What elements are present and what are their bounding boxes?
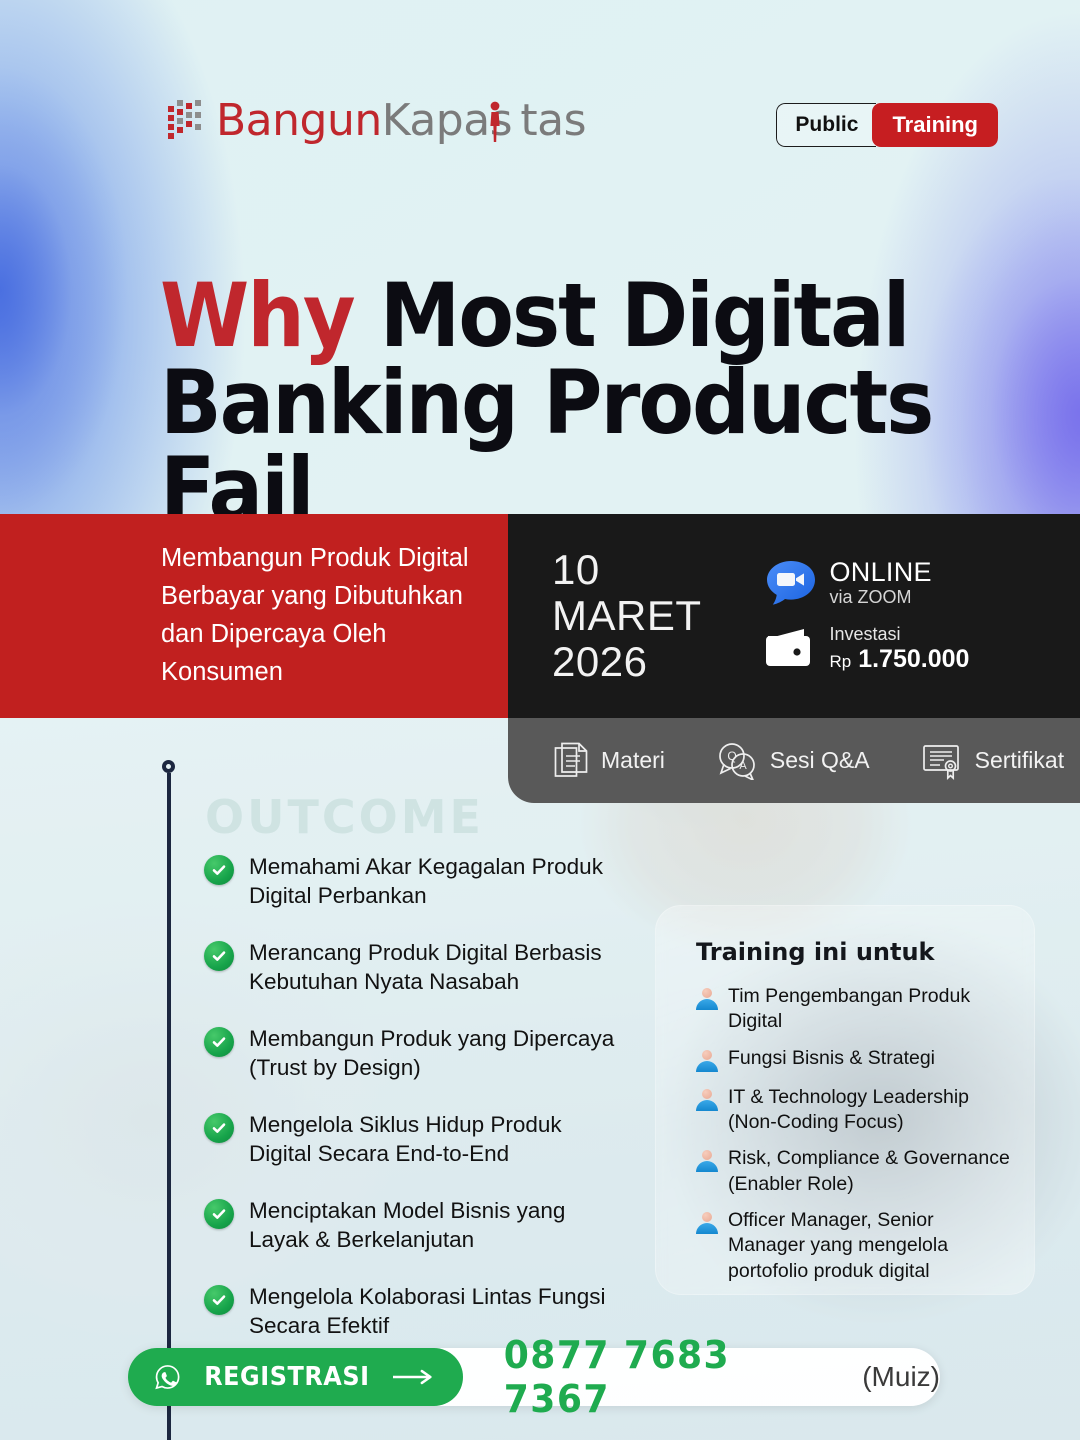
outcome-item: Membangun Produk yang Dipercaya (Trust b…	[204, 1024, 624, 1082]
price-text: Investasi Rp 1.750.000	[830, 624, 970, 674]
delivery-mode: ONLINE	[830, 558, 932, 587]
timeline-start-dot	[162, 760, 175, 773]
outcome-text: Membangun Produk yang Dipercaya (Trust b…	[249, 1024, 624, 1082]
brand-name-first: Bangun	[216, 95, 382, 146]
page-title: Why Most Digital Banking Products Fail	[160, 272, 960, 533]
check-circle-icon	[204, 1113, 234, 1143]
outcome-item: Mengelola Kolaborasi Lintas Fungsi Secar…	[204, 1282, 624, 1340]
outcome-text: Merancang Produk Digital Berbasis Kebutu…	[249, 938, 624, 996]
check-circle-icon	[204, 855, 234, 885]
svg-text:A: A	[739, 760, 747, 772]
audience-text: Risk, Compliance & Governance (Enabler R…	[728, 1146, 1010, 1197]
outcome-item: Mengelola Siklus Hidup Produk Digital Se…	[204, 1110, 624, 1168]
audience-item: Risk, Compliance & Governance (Enabler R…	[696, 1146, 1010, 1197]
brand-wordmark: BangunKapas tas	[216, 95, 586, 146]
brand-header: BangunKapas tas	[168, 95, 586, 146]
outcome-item: Merancang Produk Digital Berbasis Kebutu…	[204, 938, 624, 996]
price-currency: Rp	[830, 652, 852, 671]
audience-title: Training ini untuk	[696, 938, 1010, 966]
feature-materi: Materi	[554, 742, 665, 780]
feature-label: Sertifikat	[975, 747, 1064, 774]
contact-name: (Muiz)	[862, 1361, 940, 1393]
video-chat-bubble-icon	[764, 559, 818, 607]
timeline-line	[167, 773, 171, 1440]
audience-item: Officer Manager, Senior Manager yang men…	[696, 1208, 1010, 1284]
registrasi-label: REGISTRASI	[204, 1362, 369, 1392]
check-circle-icon	[204, 1027, 234, 1057]
check-circle-icon	[204, 1285, 234, 1315]
outcome-text: Mengelola Siklus Hidup Produk Digital Se…	[249, 1110, 624, 1168]
certificate-icon	[922, 742, 962, 780]
audience-text: Officer Manager, Senior Manager yang men…	[728, 1208, 1010, 1284]
feature-qa: Q A Sesi Q&A	[717, 742, 870, 780]
outcome-text: Menciptakan Model Bisnis yang Layak & Be…	[249, 1196, 624, 1254]
event-month: MARET	[552, 593, 702, 639]
audience-text: Fungsi Bisnis & Strategi	[728, 1046, 935, 1071]
contact-phone[interactable]: 0877 7683 7367	[504, 1333, 836, 1421]
audience-text: IT & Technology Leadership (Non-Coding F…	[728, 1085, 1010, 1136]
price-label: Investasi	[830, 624, 970, 646]
qa-speech-bubbles-icon: Q A	[717, 742, 757, 780]
event-date: 10 MARET 2026	[508, 547, 702, 686]
feature-label: Sesi Q&A	[770, 747, 870, 774]
feature-label: Materi	[601, 747, 665, 774]
brand-figure-icon	[512, 95, 520, 146]
delivery-mode-row: ONLINE via ZOOM	[764, 558, 970, 608]
audience-text: Tim Pengembangan Produk Digital	[728, 984, 1010, 1035]
person-icon	[696, 988, 718, 1012]
event-year: 2026	[552, 639, 702, 685]
arrow-right-icon	[393, 1368, 437, 1386]
brand-name-third: tas	[520, 95, 586, 146]
feature-bar: Materi Q A Sesi Q&A Sertifikat	[508, 718, 1080, 803]
price-value: 1.750.000	[858, 645, 969, 673]
audience-card: Training ini untuk Tim Pengembangan Prod…	[655, 905, 1035, 1295]
person-icon	[696, 1212, 718, 1236]
registration-bar: REGISTRASI 0877 7683 7367 (Muiz)	[128, 1348, 940, 1406]
delivery-platform: via ZOOM	[830, 587, 932, 608]
audience-item: Fungsi Bisnis & Strategi	[696, 1046, 1010, 1074]
audience-item: Tim Pengembangan Produk Digital	[696, 984, 1010, 1035]
subtitle-text: Membangun Produk Digital Berbayar yang D…	[0, 540, 508, 692]
price-amount: Rp 1.750.000	[830, 645, 970, 674]
person-icon	[696, 1089, 718, 1113]
person-icon	[696, 1150, 718, 1174]
registrasi-button[interactable]: REGISTRASI	[128, 1348, 463, 1406]
document-icon	[554, 742, 588, 780]
outcome-item: Memahami Akar Kegagalan Produk Digital P…	[204, 852, 624, 910]
outcome-item: Menciptakan Model Bisnis yang Layak & Be…	[204, 1196, 624, 1254]
person-icon	[696, 1050, 718, 1074]
price-row: Investasi Rp 1.750.000	[764, 624, 970, 674]
check-circle-icon	[204, 941, 234, 971]
check-circle-icon	[204, 1199, 234, 1229]
event-day: 10	[552, 547, 702, 593]
badge-public-label: Public	[776, 103, 876, 147]
subtitle-band: Membangun Produk Digital Berbayar yang D…	[0, 514, 508, 718]
outcome-text: Memahami Akar Kegagalan Produk Digital P…	[249, 852, 624, 910]
whatsapp-icon	[154, 1361, 181, 1393]
outcome-list: Memahami Akar Kegagalan Produk Digital P…	[204, 852, 624, 1340]
event-meta-column: ONLINE via ZOOM Investasi Rp 1.750.000	[702, 558, 970, 674]
feature-sertifikat: Sertifikat	[922, 742, 1064, 780]
pixel-dot-matrix-icon	[168, 100, 202, 142]
outcome-text: Mengelola Kolaborasi Lintas Fungsi Secar…	[249, 1282, 624, 1340]
timeline-rail	[162, 760, 175, 1440]
brand-person-figure-icon	[488, 98, 502, 144]
delivery-text: ONLINE via ZOOM	[830, 558, 932, 608]
wallet-icon	[764, 627, 820, 671]
badge-training-label: Training	[872, 103, 998, 147]
event-info-band: 10 MARET 2026 ONLINE	[508, 514, 1080, 718]
public-training-badge[interactable]: Public Training	[776, 103, 998, 147]
outcome-heading: OUTCOME	[205, 790, 484, 844]
audience-item: IT & Technology Leadership (Non-Coding F…	[696, 1085, 1010, 1136]
